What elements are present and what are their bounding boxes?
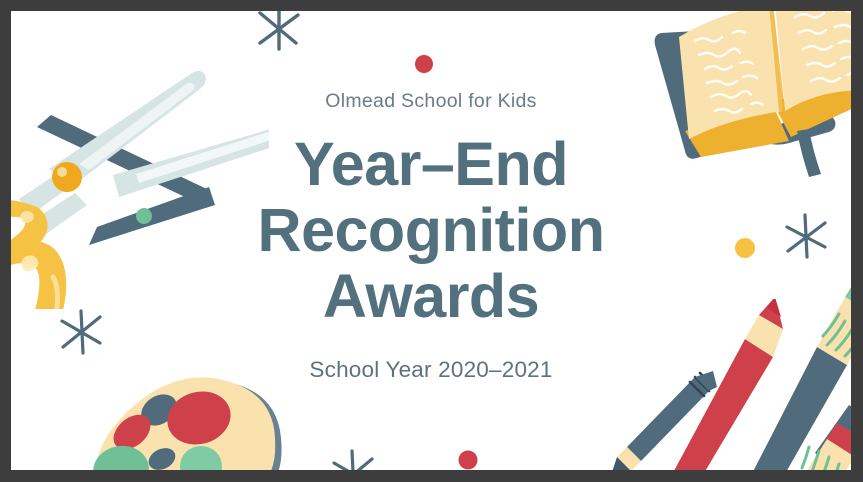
school-name: Olmead School for Kids [325,90,536,113]
slide-canvas: Olmead School for Kids Year–End Recognit… [11,11,851,470]
slide-text-block: Olmead School for Kids Year–End Recognit… [11,11,851,470]
school-year-label: School Year 2020–2021 [309,357,552,383]
page-title: Year–End Recognition Awards [216,131,646,329]
slide-frame: Olmead School for Kids Year–End Recognit… [0,0,863,482]
